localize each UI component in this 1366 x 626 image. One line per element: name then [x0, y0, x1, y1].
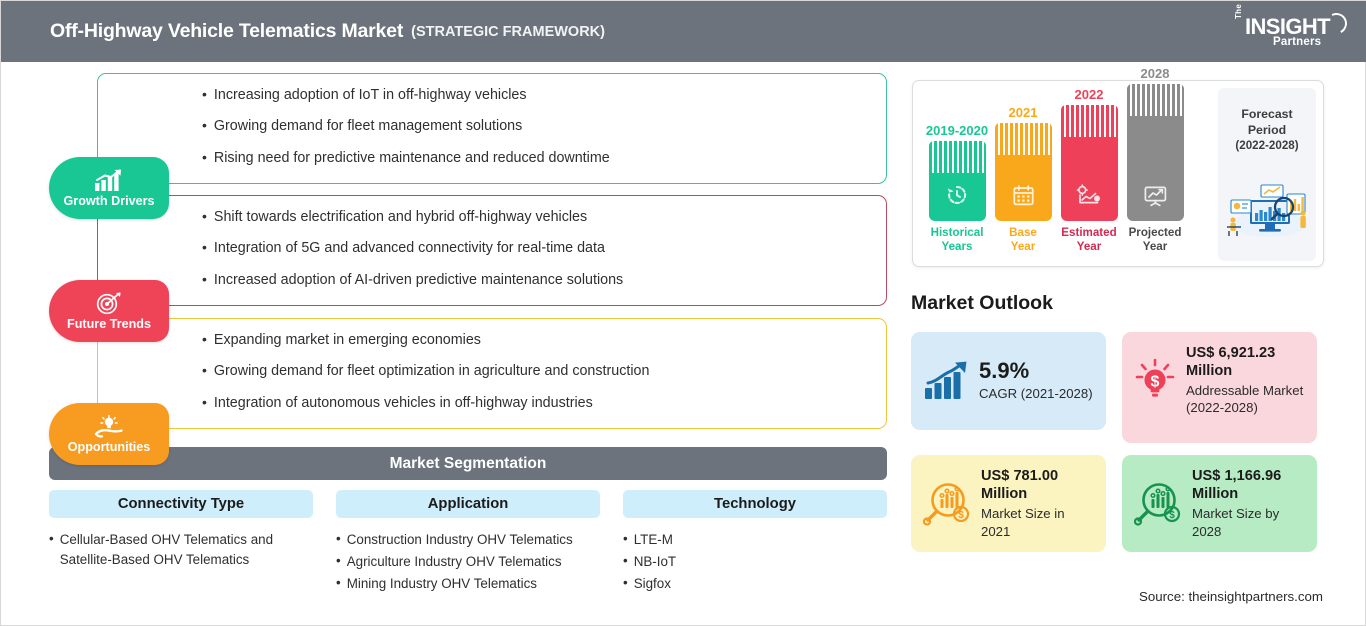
list-item: • Increased adoption of AI-driven predic…	[202, 272, 886, 290]
segment-item-text: Construction Industry OHV Telematics	[347, 530, 573, 550]
bar-year-label: 2019-2020	[926, 123, 988, 138]
bar-year-label: 2022	[1075, 87, 1104, 102]
svg-text:$: $	[1169, 510, 1175, 521]
factor-box-growth-drivers: • Increasing adoption of IoT in off-high…	[97, 73, 887, 184]
card-subtitle: Market Size in 2021	[981, 505, 1096, 539]
bar-stripe-pattern	[929, 141, 986, 173]
bullet-dot-icon: •	[202, 87, 207, 102]
card-text: US$ 781.00 Million Market Size in 2021	[981, 467, 1096, 540]
lightbulb-dollar-icon: $	[1134, 358, 1176, 402]
segment-list: • Cellular-Based OHV Telematics and Sate…	[49, 530, 313, 570]
card-text: 5.9% CAGR (2021-2028)	[979, 359, 1096, 402]
outlook-card-addressable-market: $ US$ 6,921.23 Million Addressable Marke…	[1122, 332, 1317, 443]
bullet-dot-icon: •	[202, 209, 207, 224]
segmentation-column-application: Application • Construction Industry OHV …	[336, 490, 600, 595]
bar-chart-arrow-icon	[923, 361, 969, 401]
badge-label: Growth Drivers	[64, 194, 155, 208]
brand-logo: The INSIGHT Partners	[1233, 10, 1349, 54]
card-value: US$ 6,921.23 Million	[1186, 344, 1307, 380]
bullet-dot-icon: •	[202, 272, 207, 287]
list-item: • Mining Industry OHV Telematics	[336, 574, 600, 594]
bullet-dot-icon: •	[202, 363, 207, 378]
market-segmentation-title: Market Segmentation	[390, 455, 547, 473]
bullet-text: Expanding market in emerging economies	[214, 332, 481, 350]
segment-item-text: Agriculture Industry OHV Telematics	[347, 552, 562, 572]
bar-caption: HistoricalYears	[931, 226, 984, 253]
segmentation-column-connectivity-type: Connectivity Type • Cellular-Based OHV T…	[49, 490, 313, 595]
card-subtitle: CAGR (2021-2028)	[979, 385, 1096, 402]
bullet-dot-icon: •	[49, 530, 54, 548]
bar-caption: BaseYear	[1009, 226, 1037, 253]
market-outlook-title: Market Outlook	[911, 292, 1053, 315]
bullet-text: Integration of autonomous vehicles in of…	[214, 395, 593, 413]
list-item: • NB-IoT	[623, 552, 887, 572]
badge-label: Future Trends	[67, 317, 151, 331]
bullet-dot-icon: •	[336, 552, 341, 570]
calendar-icon	[1012, 184, 1035, 212]
outlook-card-market-size-2021: $ US$ 781.00 Million Market Size in 2021	[911, 455, 1106, 552]
card-text: US$ 6,921.23 Million Addressable Market …	[1186, 344, 1307, 417]
segment-item-text: Sigfox	[634, 574, 671, 594]
bar-year-label: 2028	[1141, 66, 1170, 81]
bullet-text: Rising need for predictive maintenance a…	[214, 150, 610, 168]
forecast-line-3: (2022-2028)	[1235, 138, 1298, 153]
logo-the-text: The	[1234, 4, 1243, 19]
bullet-dot-icon: •	[202, 150, 207, 165]
badge-opportunities[interactable]: Opportunities	[49, 403, 169, 465]
bullet-dot-icon: •	[336, 574, 341, 592]
bullet-text: Increasing adoption of IoT in off-highwa…	[214, 87, 527, 105]
bar-shape	[995, 123, 1052, 221]
card-subtitle: Addressable Market (2022-2028)	[1186, 382, 1307, 416]
badge-future-trends[interactable]: Future Trends	[49, 280, 169, 342]
segment-heading: Connectivity Type	[49, 490, 313, 518]
timeline-bar-projected-year: 2028 Projected	[1125, 66, 1185, 253]
badge-label: Opportunities	[68, 440, 151, 454]
outlook-card-market-size-2028: $ US$ 1,166.96 Million Market Size by 20…	[1122, 455, 1317, 552]
timeline-bars: 2019-2020 HistoricalYears	[913, 81, 1213, 266]
bullet-text: Increased adoption of AI-driven predicti…	[214, 272, 623, 290]
card-big-value: 5.9%	[979, 358, 1029, 383]
bullet-list-growth-drivers: • Increasing adoption of IoT in off-high…	[98, 74, 886, 168]
magnifier-chart-icon: $	[923, 481, 971, 527]
infographic-page: Off-Highway Vehicle Telematics Market (S…	[0, 0, 1366, 626]
segmentation-column-technology: Technology • LTE-M • NB-IoT • Sigfox	[623, 490, 887, 595]
hand-lightbulb-icon	[93, 415, 125, 438]
segmentation-columns: Connectivity Type • Cellular-Based OHV T…	[49, 490, 887, 595]
presentation-chart-icon	[1143, 184, 1168, 212]
timeline-bar-historical-years: 2019-2020 HistoricalYears	[927, 123, 987, 253]
bullet-dot-icon: •	[202, 240, 207, 255]
bullet-text: Integration of 5G and advanced connectiv…	[214, 240, 605, 258]
factor-box-future-trends: • Shift towards electrification and hybr…	[97, 195, 887, 306]
segment-list: • LTE-M • NB-IoT • Sigfox	[623, 530, 887, 593]
list-item: • Integration of 5G and advanced connect…	[202, 240, 886, 258]
bar-stripe-pattern	[1127, 84, 1184, 116]
badge-growth-drivers[interactable]: Growth Drivers	[49, 157, 169, 219]
card-value: US$ 1,166.96 Million	[1192, 467, 1307, 503]
bullet-dot-icon: •	[202, 118, 207, 133]
list-item: • Growing demand for fleet management so…	[202, 118, 886, 136]
segment-heading: Technology	[623, 490, 887, 518]
bar-shape	[1127, 84, 1184, 221]
bullet-dot-icon: •	[623, 552, 628, 570]
list-item: • Integration of autonomous vehicles in …	[202, 395, 886, 413]
page-subtitle: (STRATEGIC FRAMEWORK)	[411, 24, 605, 40]
card-value: US$ 781.00 Million	[981, 467, 1096, 503]
market-timeline-chart: 2019-2020 HistoricalYears	[912, 80, 1324, 267]
forecast-line-1: Forecast	[1241, 106, 1292, 122]
bullet-list-opportunities: • Expanding market in emerging economies…	[98, 319, 886, 413]
list-item: • LTE-M	[623, 530, 887, 550]
list-item: • Expanding market in emerging economies	[202, 332, 886, 350]
bullet-dot-icon: •	[202, 332, 207, 347]
magnifier-chart-icon: $	[1134, 481, 1182, 527]
market-segmentation-title-bar: Market Segmentation	[49, 447, 887, 480]
bullet-dot-icon: •	[202, 395, 207, 410]
left-column: • Increasing adoption of IoT in off-high…	[1, 62, 903, 626]
outlook-card-cagr: 5.9% CAGR (2021-2028)	[911, 332, 1106, 430]
list-item: • Shift towards electrification and hybr…	[202, 209, 886, 227]
list-item: • Sigfox	[623, 574, 887, 594]
segment-item-text: Mining Industry OHV Telematics	[347, 574, 537, 594]
svg-text:$: $	[1151, 374, 1160, 391]
list-item: • Rising need for predictive maintenance…	[202, 150, 886, 168]
bar-stripe-pattern	[1061, 105, 1118, 137]
forecast-line-2: Period	[1248, 122, 1286, 138]
bullet-text: Growing demand for fleet management solu…	[214, 118, 522, 136]
bullet-text: Shift towards electrification and hybrid…	[214, 209, 587, 227]
bullet-list-future-trends: • Shift towards electrification and hybr…	[98, 196, 886, 290]
chart-gear-icon	[1076, 184, 1102, 212]
card-text: US$ 1,166.96 Million Market Size by 2028	[1192, 467, 1307, 540]
page-header: Off-Highway Vehicle Telematics Market (S…	[1, 1, 1366, 62]
timeline-bar-base-year: 2021	[993, 105, 1053, 253]
logo-partners-text: Partners	[1273, 36, 1321, 48]
svg-text:$: $	[958, 510, 964, 521]
bar-caption: EstimatedYear	[1061, 226, 1116, 253]
list-item: • Increasing adoption of IoT in off-high…	[202, 87, 886, 105]
segment-item-text: LTE-M	[634, 530, 673, 550]
bullet-dot-icon: •	[336, 530, 341, 548]
bar-caption: ProjectedYear	[1129, 226, 1182, 253]
timeline-bar-estimated-year: 2022	[1059, 87, 1119, 253]
segment-heading: Application	[336, 490, 600, 518]
bullet-dot-icon: •	[623, 530, 628, 548]
outlook-cards: 5.9% CAGR (2021-2028) $	[911, 332, 1331, 564]
target-dart-icon	[95, 292, 123, 315]
card-subtitle: Market Size by 2028	[1192, 505, 1307, 539]
list-item: • Agriculture Industry OHV Telematics	[336, 552, 600, 572]
segment-list: • Construction Industry OHV Telematics •…	[336, 530, 600, 593]
bar-year-label: 2021	[1009, 105, 1038, 120]
bar-shape	[1061, 105, 1118, 221]
bar-stripe-pattern	[995, 123, 1052, 155]
business-analytics-illustration	[1221, 180, 1313, 243]
bar-chart-arrow-icon	[94, 169, 124, 192]
page-title: Off-Highway Vehicle Telematics Market	[50, 20, 403, 43]
segment-item-text: NB-IoT	[634, 552, 676, 572]
source-attribution: Source: theinsightpartners.com	[1139, 589, 1323, 604]
bar-shape	[929, 141, 986, 221]
bullet-text: Growing demand for fleet optimization in…	[214, 363, 650, 381]
factor-box-opportunities: • Expanding market in emerging economies…	[97, 318, 887, 429]
bullet-dot-icon: •	[623, 574, 628, 592]
list-item: • Growing demand for fleet optimization …	[202, 363, 886, 381]
forecast-period-box: Forecast Period (2022-2028)	[1218, 88, 1316, 261]
list-item: • Construction Industry OHV Telematics	[336, 530, 600, 550]
clock-history-icon	[945, 183, 969, 212]
segment-item-text: Cellular-Based OHV Telematics and Satell…	[60, 530, 313, 570]
list-item: • Cellular-Based OHV Telematics and Sate…	[49, 530, 313, 570]
right-column: 2019-2020 HistoricalYears	[903, 62, 1366, 626]
